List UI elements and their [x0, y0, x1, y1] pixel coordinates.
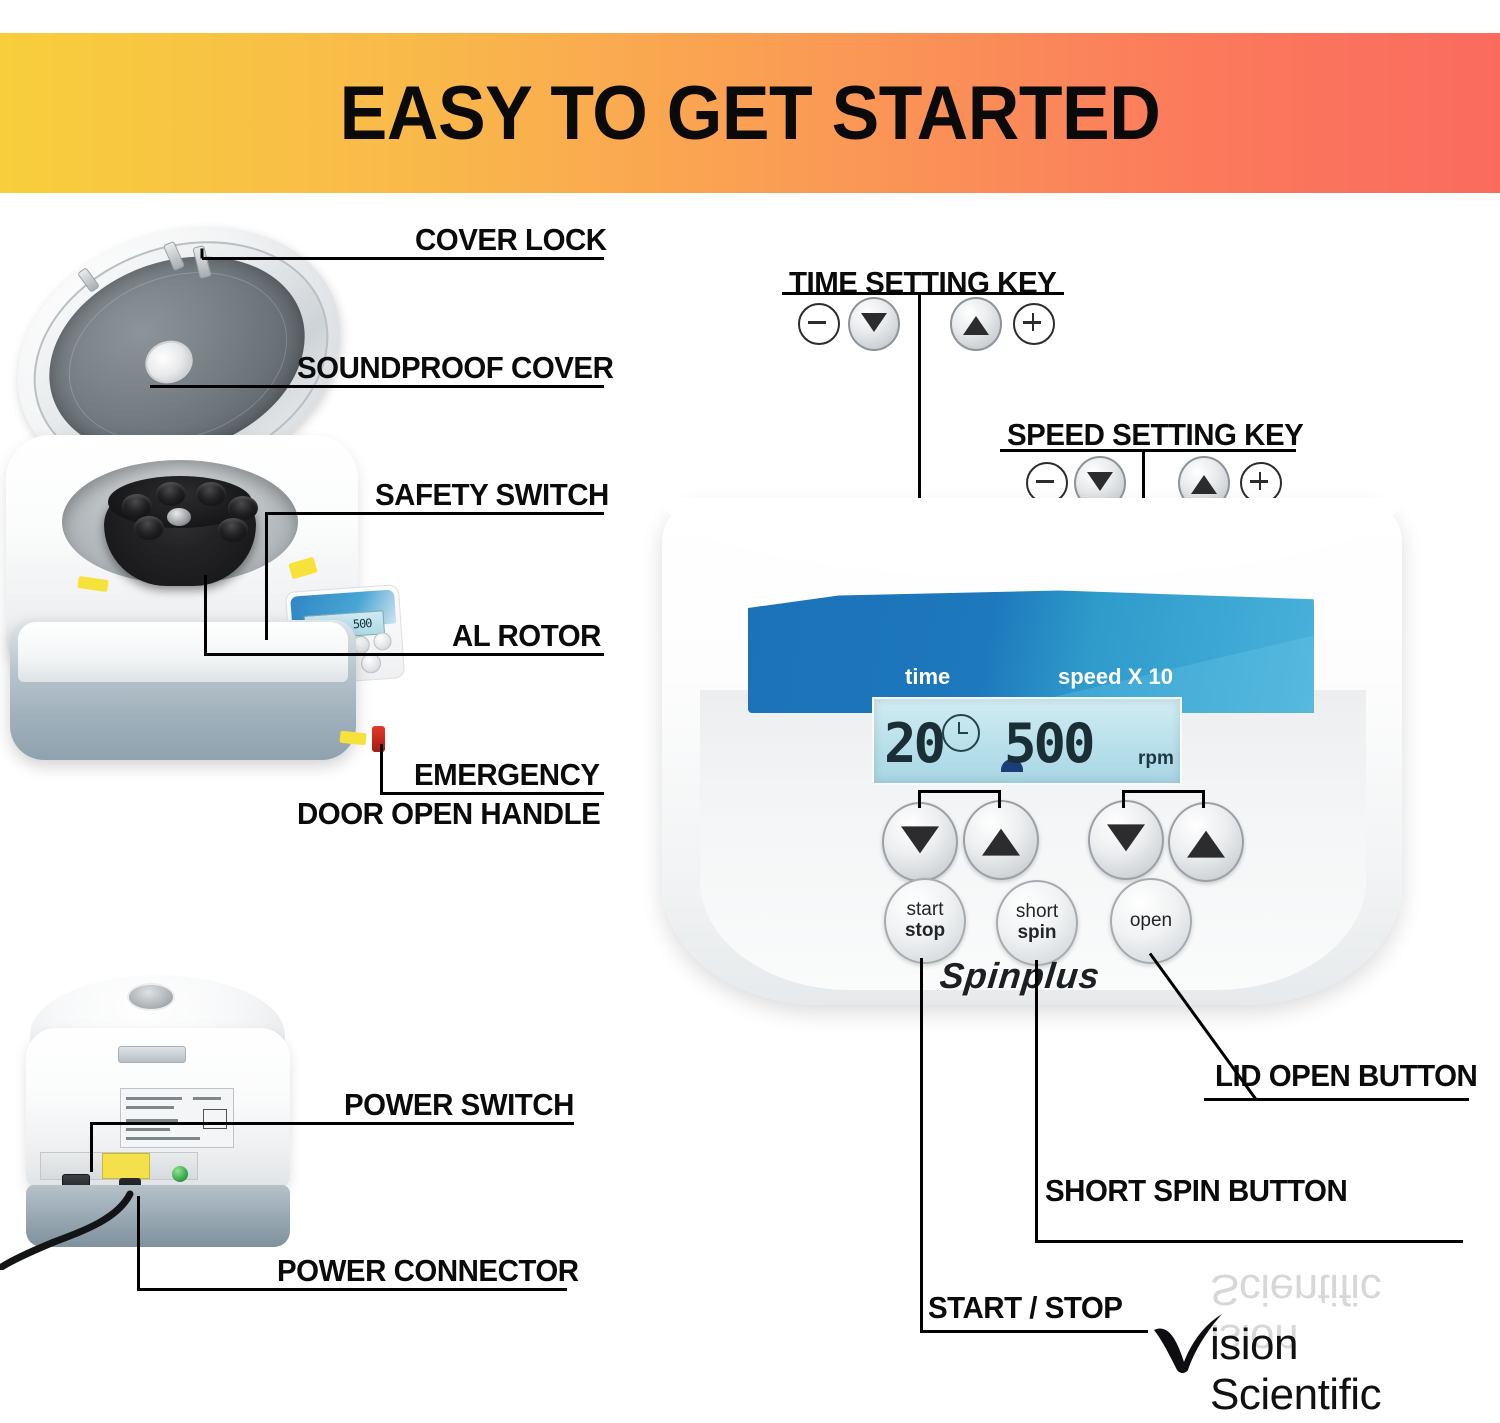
label-start-stop: START / STOP: [928, 1290, 1122, 1326]
rotor-tube-hole: [134, 516, 164, 540]
clock-icon: [942, 714, 980, 752]
speed-down-button[interactable]: [1088, 800, 1164, 880]
leader-bracket-time: [918, 790, 1000, 793]
mini-speed-up-button[interactable]: [373, 632, 392, 651]
leader-underline-short-spin: [1035, 1240, 1463, 1243]
lcd-speed-value: 500: [1004, 712, 1093, 775]
leader-tick-time-down: [918, 790, 921, 808]
short-spin-button[interactable]: short spin: [996, 880, 1078, 966]
time-down-key-icon: [848, 297, 900, 351]
panel-time-label: time: [905, 664, 950, 690]
lid-open-button[interactable]: open: [1110, 878, 1192, 964]
label-speed-setting-key: SPEED SETTING KEY: [1007, 417, 1303, 453]
lcd-time-value: 20: [884, 712, 943, 775]
label-short-spin-button: SHORT SPIN BUTTON: [1045, 1173, 1347, 1209]
rear-lid-hub: [127, 983, 175, 1011]
label-emergency-handle-line1: EMERGENCY: [414, 757, 600, 793]
leader-underline-lid-open: [1204, 1098, 1469, 1101]
power-cord: [0, 1190, 160, 1270]
leader-vline-short-spin: [1035, 960, 1038, 1240]
time-up-button[interactable]: [963, 800, 1039, 880]
lcd-rpm-unit: rpm: [1138, 748, 1174, 770]
logo-text-reflection: ision Scientific: [1210, 1264, 1480, 1364]
leader-tick-speed-down: [1122, 790, 1125, 808]
panel-speed-label: speed X 10: [1058, 664, 1173, 690]
label-time-setting-key: TIME SETTING KEY: [789, 265, 1056, 301]
leader-underline-al-rotor: [204, 653, 604, 656]
vision-scientific-logo: ision Scientific ision Scientific: [1150, 1312, 1480, 1382]
leader-bracket-speed: [1122, 790, 1204, 793]
leader-tick-speed-up: [1202, 790, 1205, 808]
rotor-center-nut: [167, 508, 191, 526]
rotor-tube-hole: [156, 482, 186, 506]
open-label: open: [1130, 911, 1172, 932]
centrifuge-base-front: [18, 622, 348, 682]
label-emergency-handle-line2: DOOR OPEN HANDLE: [297, 796, 600, 832]
warning-sticker: [339, 731, 366, 746]
emergency-door-open-handle[interactable]: [372, 726, 385, 752]
leader-tick-time-up: [998, 790, 1001, 808]
spinplus-brand-logo: Spinplus: [938, 955, 1102, 997]
leader-underline-time-setting-key: [782, 292, 1064, 295]
leader-vline-emergency: [380, 744, 383, 792]
leader-vline-start-stop: [920, 958, 923, 1330]
leader-underline-power-switch: [90, 1122, 574, 1125]
speed-up-button[interactable]: [1168, 802, 1244, 882]
label-cover-lock: COVER LOCK: [415, 222, 607, 258]
leader-underline-safety-switch: [265, 512, 604, 515]
input-power-warning-label: [102, 1153, 150, 1179]
leader-vline-power-connector: [137, 1196, 140, 1288]
rotor-tube-hole: [228, 496, 258, 520]
short-spin-label-bottom: spin: [1017, 923, 1056, 944]
ground-symbol-icon: [172, 1166, 188, 1182]
leader-underline-speed-setting-key: [1000, 449, 1296, 452]
rotor-tube-hole: [122, 494, 152, 518]
label-lid-open-button: LID OPEN BUTTON: [1215, 1058, 1477, 1094]
label-soundproof-cover: SOUNDPROOF COVER: [297, 350, 613, 386]
leader-vline-power-switch: [90, 1122, 93, 1172]
plus-icon-time: [1013, 303, 1055, 345]
label-power-switch: POWER SWITCH: [344, 1087, 574, 1123]
leader-tick-cover-lock: [201, 249, 204, 259]
rear-vent-slot: [118, 1046, 186, 1063]
start-stop-label-top: start: [907, 900, 944, 921]
leader-underline-emergency: [380, 792, 604, 795]
label-safety-switch: SAFETY SWITCH: [375, 477, 609, 513]
time-up-key-icon: [950, 297, 1002, 351]
start-stop-button[interactable]: start stop: [884, 878, 966, 964]
label-power-connector: POWER CONNECTOR: [277, 1253, 579, 1289]
rating-label: [120, 1088, 234, 1148]
page-title: EASY TO GET STARTED: [45, 33, 1455, 193]
leader-underline-soundproof-cover: [150, 385, 604, 388]
leader-underline-cover-lock: [202, 257, 604, 260]
leader-underline-power-connector: [137, 1288, 567, 1291]
ce-mark-icon: [203, 1109, 227, 1129]
leader-vline-safety-switch: [265, 512, 268, 640]
short-spin-label-top: short: [1016, 902, 1058, 923]
time-down-button[interactable]: [882, 802, 958, 882]
mini-lcd-speed: 500: [352, 616, 372, 631]
leader-underline-start-stop: [920, 1330, 1148, 1333]
rotor-tube-hole: [196, 482, 226, 506]
start-stop-label-bottom: stop: [905, 921, 945, 942]
minus-icon-time: [798, 303, 840, 345]
rotor-tube-hole: [218, 518, 248, 542]
leader-vline-al-rotor: [204, 575, 207, 653]
label-al-rotor: AL ROTOR: [452, 618, 601, 654]
